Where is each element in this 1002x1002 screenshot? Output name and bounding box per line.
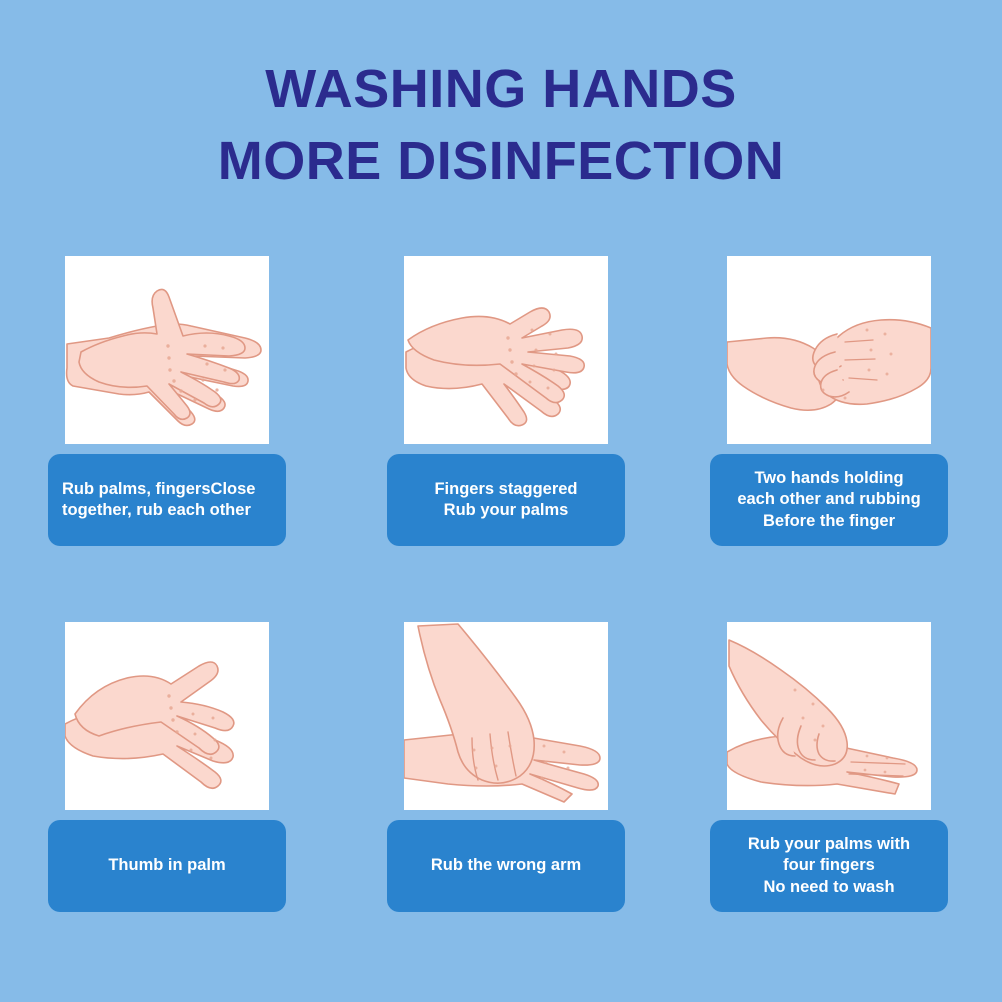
step-card-4: Thumb in palm <box>48 622 286 912</box>
step-illustration-6 <box>727 622 931 810</box>
poster-title: WASHING HANDS MORE DISINFECTION <box>0 62 1002 188</box>
step-card-1: Rub palms, fingersClose together, rub ea… <box>48 256 286 546</box>
step-illustration-1 <box>65 256 269 444</box>
step-caption-3: Two hands holding each other and rubbing… <box>710 454 948 546</box>
step-caption-4: Thumb in palm <box>48 820 286 912</box>
steps-grid: Rub palms, fingersClose together, rub ea… <box>0 256 1002 988</box>
step-illustration-5 <box>404 622 608 810</box>
steps-row-bottom: Thumb in palm <box>0 622 1002 988</box>
step-card-6: Rub your palms with four fingers No need… <box>710 622 948 912</box>
steps-row-top: Rub palms, fingersClose together, rub ea… <box>0 256 1002 622</box>
title-line-2: MORE DISINFECTION <box>0 134 1002 188</box>
title-line-1: WASHING HANDS <box>0 62 1002 116</box>
caption-line: No need to wash <box>763 877 894 898</box>
caption-line: Before the finger <box>763 511 895 532</box>
caption-line: Rub your palms with <box>748 834 910 855</box>
step-illustration-4 <box>65 622 269 810</box>
caption-line: each other and rubbing <box>737 489 920 510</box>
caption-line: Fingers staggered <box>434 479 577 500</box>
caption-line: Thumb in palm <box>108 855 225 876</box>
caption-line: Rub your palms <box>444 500 569 521</box>
step-illustration-2 <box>404 256 608 444</box>
step-card-3: Two hands holding each other and rubbing… <box>710 256 948 546</box>
caption-line: Two hands holding <box>754 468 903 489</box>
step-caption-2: Fingers staggered Rub your palms <box>387 454 625 546</box>
step-caption-1: Rub palms, fingersClose together, rub ea… <box>48 454 286 546</box>
step-card-2: Fingers staggered Rub your palms <box>387 256 625 546</box>
step-caption-6: Rub your palms with four fingers No need… <box>710 820 948 912</box>
step-caption-5: Rub the wrong arm <box>387 820 625 912</box>
caption-line: Rub palms, fingersClose <box>62 479 255 500</box>
step-card-5: Rub the wrong arm <box>387 622 625 912</box>
caption-line: Rub the wrong arm <box>431 855 581 876</box>
caption-line: together, rub each other <box>62 500 251 521</box>
hand-washing-poster: WASHING HANDS MORE DISINFECTION <box>0 0 1002 1002</box>
caption-line: four fingers <box>783 855 875 876</box>
step-illustration-3 <box>727 256 931 444</box>
